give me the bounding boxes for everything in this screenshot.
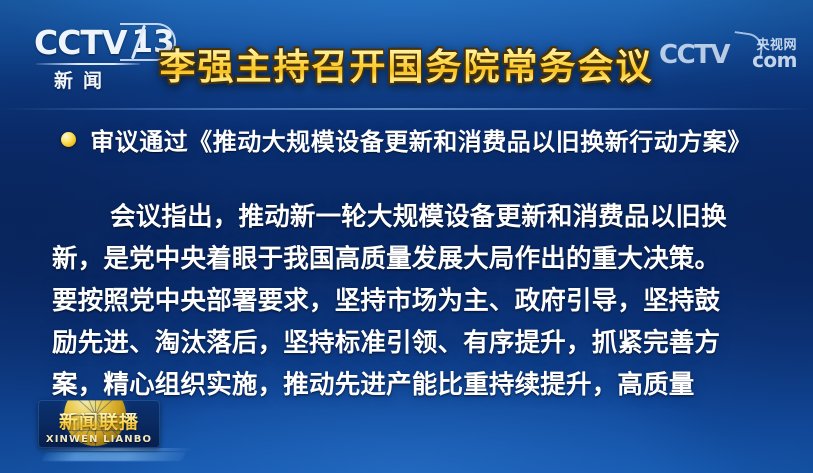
- body-line: 新，是党中央着眼于我国高质量发展大局作出的重大决策。: [52, 238, 767, 280]
- headline-divider-rule: [0, 108, 813, 110]
- body-line: 励先进、淘汰落后，坚持标准引领、有序提升，抓紧完善方: [52, 322, 767, 364]
- body-line: 会议指出，推动新一轮大规模设备更新和消费品以旧换: [52, 196, 767, 238]
- subtitle-text: 审议通过《推动大规模设备更新和消费品以旧换新行动方案》: [90, 122, 752, 157]
- xinwen-lianbo-pinyin: XINWEN LIANBO: [38, 434, 160, 445]
- subtitle-row: 审议通过《推动大规模设备更新和消费品以旧换新行动方案》: [0, 122, 813, 157]
- xinwen-lianbo-logo: 新闻联播 XINWEN LIANBO: [38, 400, 160, 448]
- logo-shelf-highlight: [39, 448, 193, 451]
- body-line: 要按照党中央部署要求，坚持市场为主、政府引导，坚持鼓: [52, 280, 767, 322]
- headline-text: 李强主持召开国务院常务会议: [159, 48, 653, 88]
- xinwen-lianbo-chinese: 新闻联播: [38, 413, 160, 432]
- body-paragraph: 会议指出，推动新一轮大规模设备更新和消费品以旧换 新，是党中央着眼于我国高质量发…: [52, 196, 767, 406]
- bullet-dot-icon: [61, 132, 76, 147]
- broadcast-news-lower-third-screen: CCTV 13 新闻 CCTV 央视网 com 李强主持召开国务院常务会议 审议…: [0, 0, 813, 473]
- body-line: 案，精心组织实施，推动先进产能比重持续提升，高质量: [52, 364, 767, 406]
- headline-banner: 李强主持召开国务院常务会议: [0, 48, 813, 88]
- logo-shelf-bar: [42, 452, 187, 461]
